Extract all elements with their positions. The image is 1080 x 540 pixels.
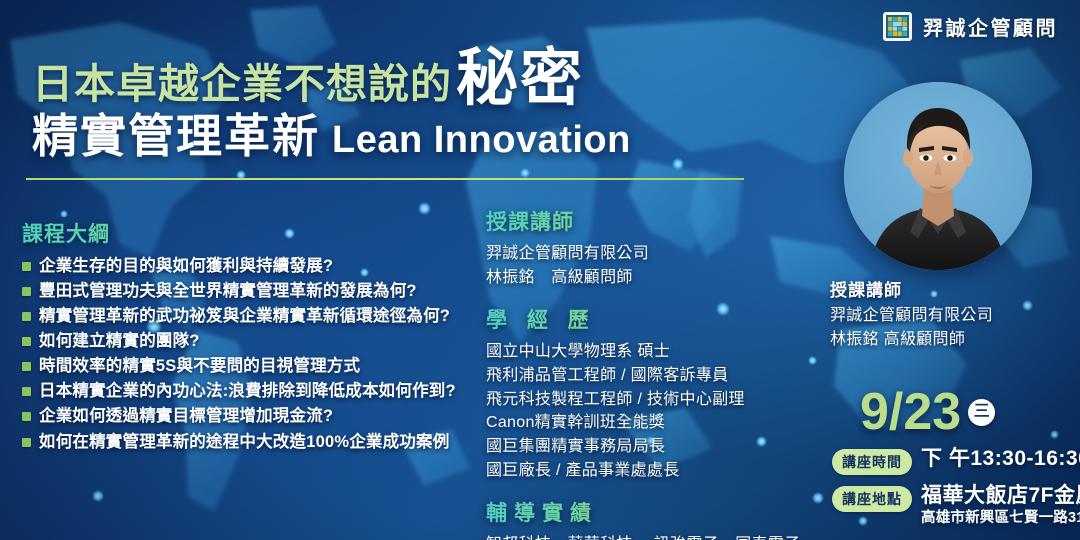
instructor-block: 授課講師 羿誠企管顧問有限公司 林振銘 高級顧問師 [486, 206, 816, 289]
list-item: 如何在精實管理革新的途程中大改造100%企業成功案例 [22, 430, 492, 455]
instructor-heading: 授課講師 [486, 206, 816, 236]
mosaic-grid-logo-icon [883, 12, 912, 41]
credentials-heading: 學 經 歷 [486, 304, 816, 334]
course-outline-section: 課程大綱 企業生存的目的與如何獲利與持續發展? 豐田式管理功夫與全世界精實管理革… [22, 218, 492, 455]
square-bullet-icon [22, 287, 31, 296]
headline-english: Lean Innovation [332, 121, 631, 161]
course-outline-heading: 課程大綱 [22, 218, 492, 248]
list-item-label: 精實管理革新的武功祕笈與企業精實革新循環途徑為何? [39, 304, 450, 329]
event-date: 9/23 [860, 386, 961, 438]
list-item-label: 日本精實企業的內功心法:浪費排除到降低成本如何作到? [39, 379, 456, 404]
speaker-portrait [844, 82, 1032, 270]
credential-item: 國巨廠長 / 產品事業處處長 [486, 459, 816, 483]
brand-name: 羿誠企管顧問 [923, 12, 1058, 41]
event-place-value: 福華大飯店7F金鳳1廳 [921, 483, 1080, 509]
list-item-label: 企業生存的目的與如何獲利與持續發展? [39, 254, 333, 279]
event-address: 高雄市新興區七賢一路311號 [921, 509, 1080, 528]
instructor-company: 羿誠企管顧問有限公司 [486, 242, 816, 266]
instructor-right-company: 羿誠企管顧問有限公司 [830, 304, 1070, 328]
credential-item: 飛利浦品管工程師 / 國際客訴專員 [486, 364, 816, 388]
credentials-block: 學 經 歷 國立中山大學物理系 碩士 飛利浦品管工程師 / 國際客訴專員 飛元科… [486, 304, 816, 482]
instructor-right-person: 林振銘 高級顧問師 [830, 328, 1070, 352]
instructor-person: 林振銘 高級顧問師 [486, 266, 816, 290]
instructor-right-section: 授課講師 羿誠企管顧問有限公司 林振銘 高級顧問師 [830, 276, 1070, 351]
event-weekday-badge: 三 [968, 399, 995, 426]
headline-main: 精實管理革新 [32, 112, 320, 160]
headline-divider [26, 178, 744, 180]
square-bullet-icon [22, 362, 31, 371]
clients-block: 輔導實績 智邦科技、蔚華科技、 訊強電子、同泰電子、 昊陽天宇、樹德收納、昱盛、… [486, 497, 816, 540]
headline-row-2: 精實管理革新 Lean Innovation [32, 112, 631, 161]
headline-lead: 日本卓越企業不想說的 [32, 64, 452, 110]
square-bullet-icon [22, 438, 31, 447]
list-item-label: 如何建立精實的團隊? [39, 329, 200, 354]
list-item: 企業生存的目的與如何獲利與持續發展? [22, 254, 492, 279]
brand-lockup: 羿誠企管顧問 [883, 12, 1058, 41]
event-place-row: 講座地點 福華大飯店7F金鳳1廳 高雄市新興區七賢一路311號 [832, 483, 1080, 528]
square-bullet-icon [22, 312, 31, 321]
list-item: 豐田式管理功夫與全世界精實管理革新的發展為何? [22, 279, 492, 304]
list-item: 日本精實企業的內功心法:浪費排除到降低成本如何作到? [22, 379, 492, 404]
credential-item: 飛元科技製程工程師 / 技術中心副理 [486, 388, 816, 412]
instructor-right-heading: 授課講師 [830, 276, 1070, 301]
square-bullet-icon [22, 387, 31, 396]
square-bullet-icon [22, 412, 31, 421]
event-time-value: 下 午13:30-16:30 [921, 446, 1080, 472]
credential-item: 國立中山大學物理系 碩士 [486, 340, 816, 364]
list-item-label: 如何在精實管理革新的途程中大改造100%企業成功案例 [39, 430, 449, 455]
square-bullet-icon [22, 337, 31, 346]
event-date-row: 9/23 三 [860, 386, 1080, 438]
list-item-label: 企業如何透過精實目標管理增加現金流? [39, 404, 333, 429]
list-item: 精實管理革新的武功祕笈與企業精實革新循環途徑為何? [22, 304, 492, 329]
clients-heading: 輔導實績 [486, 497, 816, 527]
course-outline-list: 企業生存的目的與如何獲利與持續發展? 豐田式管理功夫與全世界精實管理革新的發展為… [22, 254, 492, 455]
credential-item: Canon精實幹訓班全能獎 [486, 411, 816, 435]
event-place-values: 福華大飯店7F金鳳1廳 高雄市新興區七賢一路311號 [921, 483, 1080, 528]
event-time-label: 講座時間 [832, 449, 912, 475]
headline-block: 日本卓越企業不想說的 秘密 精實管理革新 Lean Innovation [32, 48, 631, 161]
list-item-label: 時間效率的精實5S與不要問的目視管理方式 [39, 354, 360, 379]
list-item: 時間效率的精實5S與不要問的目視管理方式 [22, 354, 492, 379]
event-time-row: 講座時間 下 午13:30-16:30 [832, 446, 1080, 475]
event-info-section: 9/23 三 講座時間 下 午13:30-16:30 講座地點 福華大飯店7F金… [832, 386, 1080, 528]
client-line: 智邦科技、蔚華科技、 訊強電子、同泰電子、 [486, 533, 816, 540]
list-item: 如何建立精實的團隊? [22, 329, 492, 354]
event-place-label: 講座地點 [832, 486, 912, 512]
credential-item: 國巨集團精實事務局局長 [486, 435, 816, 459]
list-item: 企業如何透過精實目標管理增加現金流? [22, 404, 492, 429]
instructor-details-section: 授課講師 羿誠企管顧問有限公司 林振銘 高級顧問師 學 經 歷 國立中山大學物理… [486, 206, 816, 540]
event-time-values: 下 午13:30-16:30 [921, 446, 1080, 472]
square-bullet-icon [22, 262, 31, 271]
headline-row-1: 日本卓越企業不想說的 秘密 [32, 48, 631, 110]
headline-emphasis: 秘密 [456, 48, 584, 110]
poster-root: 羿誠企管顧問 日本卓越企業不想說的 秘密 精實管理革新 Lean Innovat… [0, 0, 1080, 540]
list-item-label: 豐田式管理功夫與全世界精實管理革新的發展為何? [39, 279, 417, 304]
